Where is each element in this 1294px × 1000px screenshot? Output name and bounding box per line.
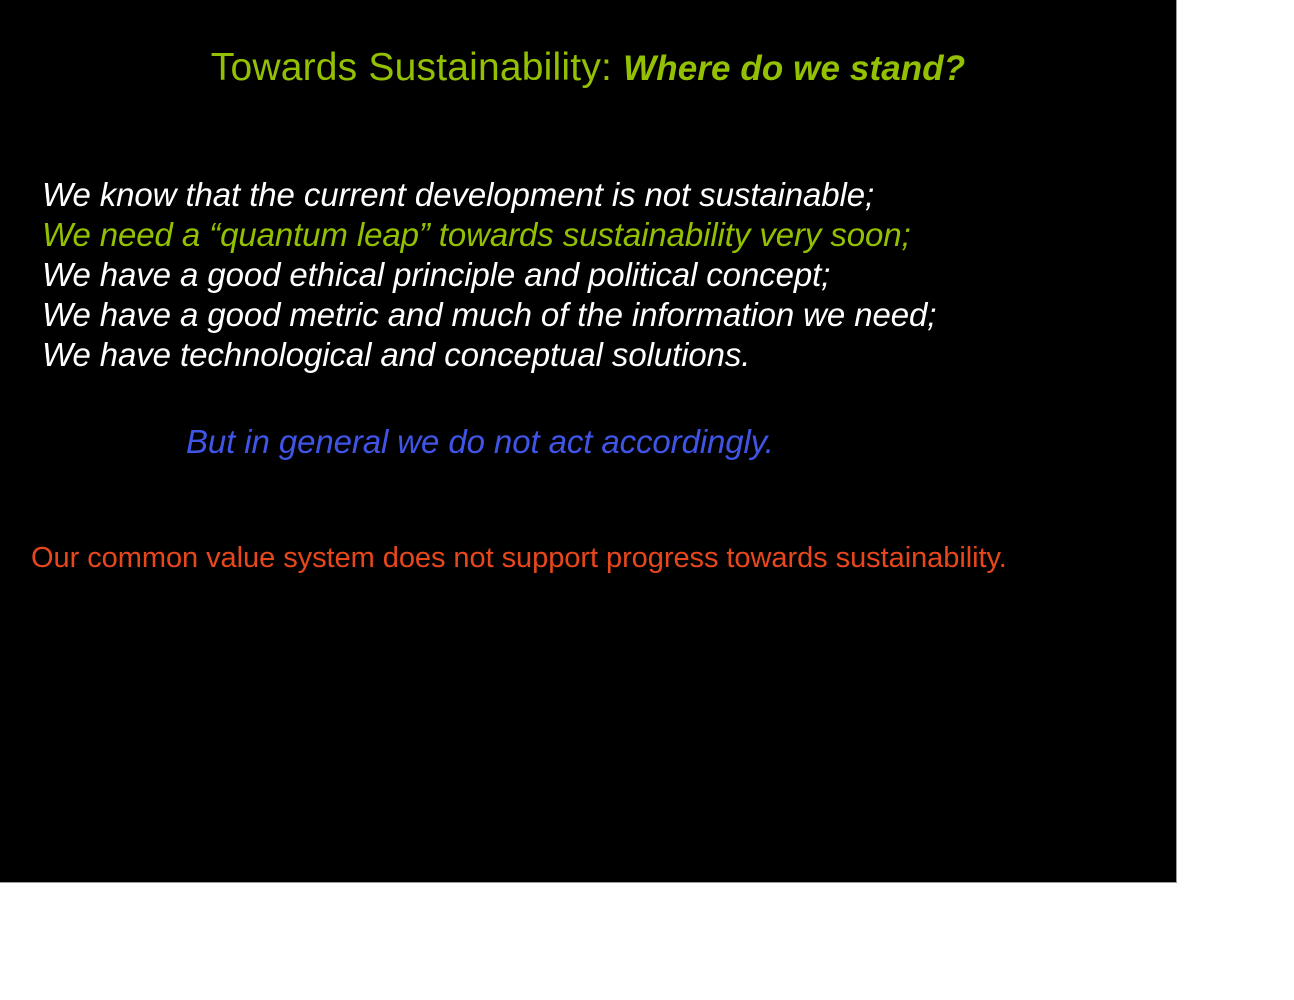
slide-canvas: Towards Sustainability: Where do we stan… bbox=[0, 0, 1294, 1000]
page-title: Towards Sustainability: Where do we stan… bbox=[0, 48, 1176, 87]
body-line: We need a “quantum leap” towards sustain… bbox=[42, 215, 1162, 255]
page-title-main: Towards Sustainability: bbox=[211, 46, 623, 89]
body-line: We have a good metric and much of the in… bbox=[42, 295, 1162, 335]
footer-statement: Our common value system does not support… bbox=[31, 540, 1007, 576]
page-title-subtitle: Where do we stand? bbox=[623, 49, 965, 88]
body-line: We have a good ethical principle and pol… bbox=[42, 255, 1162, 295]
body-text-block: We know that the current development is … bbox=[42, 175, 1162, 375]
body-line: We know that the current development is … bbox=[42, 175, 1162, 215]
slide-surface: Towards Sustainability: Where do we stan… bbox=[0, 0, 1177, 883]
emphasis-statement: But in general we do not act accordingly… bbox=[186, 422, 774, 462]
body-line: We have technological and conceptual sol… bbox=[42, 335, 1162, 375]
